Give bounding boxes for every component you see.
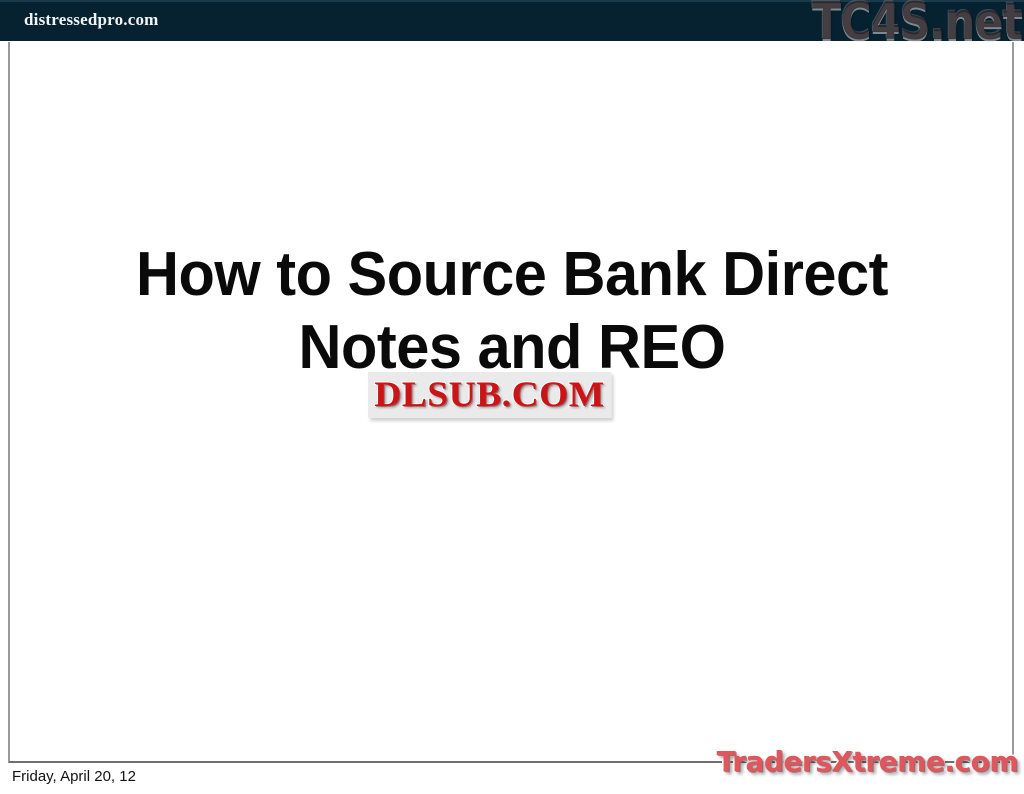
presentation-slide-screenshot: distressedpro.com TC4S.net How to Source… [0, 0, 1024, 794]
slide-title: How to Source Bank Direct Notes and REO [78, 238, 946, 384]
slide-footer-date: Friday, April 20, 12 [12, 768, 136, 785]
site-brand-label: distressedpro.com [24, 10, 159, 30]
slide-title-line-2: Notes and REO [78, 311, 946, 384]
site-header-bar: distressedpro.com [0, 0, 1024, 41]
slide-title-line-1: How to Source Bank Direct [78, 238, 946, 311]
slide-content-frame [8, 42, 1014, 763]
